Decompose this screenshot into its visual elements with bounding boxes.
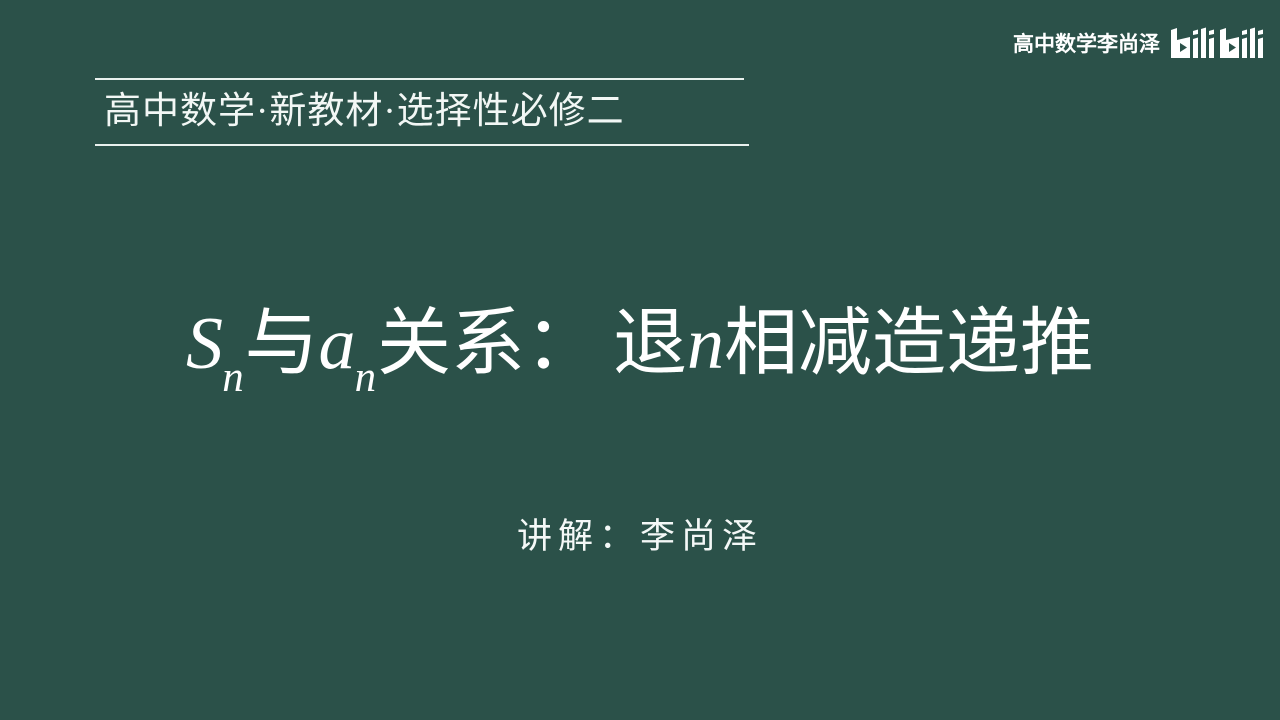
brand-watermark: 高中数学李尚泽 <box>1013 27 1266 61</box>
title-method-prefix: 退 <box>613 303 687 385</box>
course-line: 高中数学·新教材·选择性必修二 <box>95 89 750 135</box>
course-header-block: 高中数学·新教材·选择性必修二 <box>95 78 750 146</box>
title-term-symbol: a <box>319 303 356 385</box>
title-method-variable: n <box>687 303 724 385</box>
title-relation-word: 关系： <box>377 303 599 385</box>
title-sum-subscript: n <box>222 354 243 401</box>
presenter-line: 讲解：李尚泽 <box>0 513 1280 561</box>
title-connector: 与 <box>245 303 319 385</box>
page-title: Sn与an关系：退n相减造递推 <box>0 288 1280 427</box>
header-rule-top <box>95 78 744 80</box>
title-sum-symbol: S <box>186 303 223 385</box>
title-method-suffix: 相减造递推 <box>724 303 1094 385</box>
slide-root: 高中数学李尚泽 <box>0 0 1280 720</box>
header-rule-bottom <box>95 144 749 146</box>
channel-name: 高中数学李尚泽 <box>1013 34 1160 55</box>
title-term-subscript: n <box>355 354 376 401</box>
bilibili-logo <box>1170 27 1266 61</box>
